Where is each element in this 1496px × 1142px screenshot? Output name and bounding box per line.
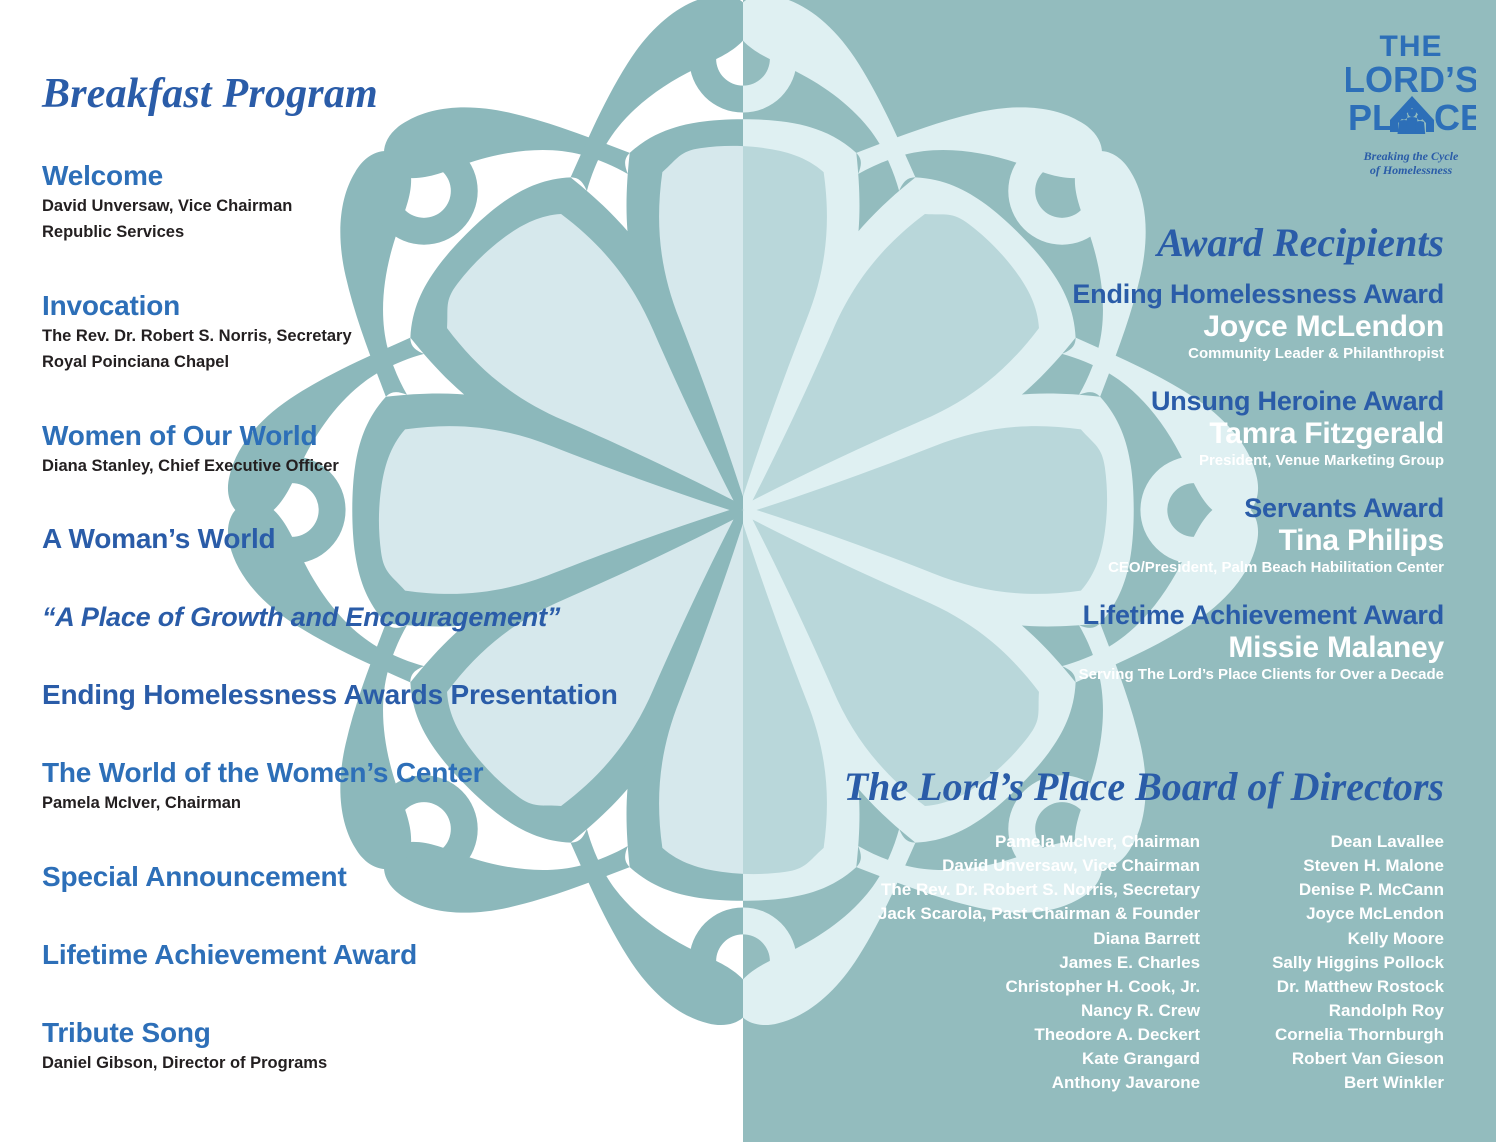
board-member-name: Randolph Roy bbox=[1272, 999, 1444, 1023]
program-item-heading: “A Place of Growth and Encouragement” bbox=[42, 602, 702, 633]
program-item-heading: The World of the Women’s Center bbox=[42, 757, 702, 789]
board-of-directors-section: The Lord’s Place Board of Directors Pame… bbox=[604, 766, 1444, 1095]
program-item-heading: Welcome bbox=[42, 160, 702, 192]
program-item-subtitle: Pamela McIver, Chairman bbox=[42, 793, 702, 815]
award-recipient-role: Community Leader & Philanthropist bbox=[744, 345, 1444, 363]
award-list: Ending Homelessness AwardJoyce McLendonC… bbox=[744, 278, 1444, 684]
program-item: WelcomeDavid Unversaw, Vice ChairmanRepu… bbox=[42, 160, 702, 244]
breakfast-program-column: Breakfast Program WelcomeDavid Unversaw,… bbox=[42, 72, 702, 1121]
program-item-subtitle: Royal Poinciana Chapel bbox=[42, 352, 702, 374]
board-member-name: Joyce McLendon bbox=[1272, 902, 1444, 926]
program-item-subtitle: Diana Stanley, Chief Executive Officer bbox=[42, 456, 702, 478]
award-recipients-section: Award Recipients Ending Homelessness Awa… bbox=[744, 222, 1444, 706]
lords-place-logo: THE LORD’S PL CE Breaking the Cycle of H… bbox=[1346, 28, 1476, 177]
award-recipient-role: President, Venue Marketing Group bbox=[744, 452, 1444, 470]
page-title: Breakfast Program bbox=[42, 72, 702, 116]
board-member-name: Jack Scarola, Past Chairman & Founder bbox=[878, 902, 1200, 926]
award-recipient-name: Tina Philips bbox=[744, 524, 1444, 558]
award-recipient-name: Missie Malaney bbox=[744, 631, 1444, 665]
program-item-heading: Women of Our World bbox=[42, 420, 702, 452]
program-item-heading: Ending Homelessness Awards Presentation bbox=[42, 679, 702, 711]
board-member-name: Christopher H. Cook, Jr. bbox=[878, 975, 1200, 999]
board-member-name: Denise P. McCann bbox=[1272, 878, 1444, 902]
svg-text:PL: PL bbox=[1348, 97, 1394, 138]
program-item-list: WelcomeDavid Unversaw, Vice ChairmanRepu… bbox=[42, 160, 702, 1075]
board-member-name: Diana Barrett bbox=[878, 927, 1200, 951]
award-entry: Unsung Heroine AwardTamra FitzgeraldPres… bbox=[744, 385, 1444, 470]
logo-tagline-line-1: Breaking the Cycle bbox=[1346, 149, 1476, 163]
program-item-subtitle: The Rev. Dr. Robert S. Norris, Secretary bbox=[42, 326, 702, 348]
board-member-name: The Rev. Dr. Robert S. Norris, Secretary bbox=[878, 878, 1200, 902]
program-item: InvocationThe Rev. Dr. Robert S. Norris,… bbox=[42, 290, 702, 374]
board-member-name: Dr. Matthew Rostock bbox=[1272, 975, 1444, 999]
board-of-directors-title: The Lord’s Place Board of Directors bbox=[604, 766, 1444, 808]
program-item: A Woman’s World bbox=[42, 523, 702, 555]
program-item-subtitle: David Unversaw, Vice Chairman bbox=[42, 196, 702, 218]
board-member-name: Bert Winkler bbox=[1272, 1071, 1444, 1095]
board-member-name: Kelly Moore bbox=[1272, 927, 1444, 951]
svg-text:LORD’S: LORD’S bbox=[1346, 59, 1476, 100]
svg-text:CE: CE bbox=[1434, 97, 1476, 138]
award-entry: Lifetime Achievement AwardMissie Malaney… bbox=[744, 599, 1444, 684]
board-member-name: Nancy R. Crew bbox=[878, 999, 1200, 1023]
program-item: The World of the Women’s CenterPamela Mc… bbox=[42, 757, 702, 815]
award-recipients-title: Award Recipients bbox=[744, 222, 1444, 264]
award-title: Lifetime Achievement Award bbox=[744, 599, 1444, 631]
board-member-name: James E. Charles bbox=[878, 951, 1200, 975]
award-recipient-name: Joyce McLendon bbox=[744, 310, 1444, 344]
award-recipient-role: Serving The Lord’s Place Clients for Ove… bbox=[744, 666, 1444, 684]
award-recipient-name: Tamra Fitzgerald bbox=[744, 417, 1444, 451]
program-item-heading: Invocation bbox=[42, 290, 702, 322]
program-item-subtitle: Republic Services bbox=[42, 222, 702, 244]
program-item-heading: Lifetime Achievement Award bbox=[42, 939, 702, 971]
award-recipient-role: CEO/President, Palm Beach Habilitation C… bbox=[744, 559, 1444, 577]
program-item-heading: A Woman’s World bbox=[42, 523, 702, 555]
program-item-heading: Tribute Song bbox=[42, 1017, 702, 1049]
board-member-name: Cornelia Thornburgh bbox=[1272, 1023, 1444, 1047]
award-title: Servants Award bbox=[744, 492, 1444, 524]
award-title: Ending Homelessness Award bbox=[744, 278, 1444, 310]
logo-tagline: Breaking the Cycle of Homelessness bbox=[1346, 149, 1476, 177]
board-member-name: Anthony Javarone bbox=[878, 1071, 1200, 1095]
board-member-name: Pamela McIver, Chairman bbox=[878, 830, 1200, 854]
board-columns: Pamela McIver, ChairmanDavid Unversaw, V… bbox=[604, 830, 1444, 1095]
board-member-name: Robert Van Gieson bbox=[1272, 1047, 1444, 1071]
board-member-name: Kate Grangard bbox=[878, 1047, 1200, 1071]
program-page: Breakfast Program WelcomeDavid Unversaw,… bbox=[0, 0, 1496, 1142]
program-item: Women of Our WorldDiana Stanley, Chief E… bbox=[42, 420, 702, 478]
program-item: Lifetime Achievement Award bbox=[42, 939, 702, 971]
board-column-right: Dean LavalleeSteven H. MaloneDenise P. M… bbox=[1272, 830, 1444, 1095]
award-entry: Ending Homelessness AwardJoyce McLendonC… bbox=[744, 278, 1444, 363]
program-item-heading: Special Announcement bbox=[42, 861, 702, 893]
award-title: Unsung Heroine Award bbox=[744, 385, 1444, 417]
board-member-name: Steven H. Malone bbox=[1272, 854, 1444, 878]
award-entry: Servants AwardTina PhilipsCEO/President,… bbox=[744, 492, 1444, 577]
program-item-subtitle: Daniel Gibson, Director of Programs bbox=[42, 1053, 702, 1075]
board-member-name: Dean Lavallee bbox=[1272, 830, 1444, 854]
program-item: Special Announcement bbox=[42, 861, 702, 893]
board-column-left: Pamela McIver, ChairmanDavid Unversaw, V… bbox=[878, 830, 1200, 1095]
lords-place-logo-icon: THE LORD’S PL CE bbox=[1346, 28, 1476, 146]
program-item: “A Place of Growth and Encouragement” bbox=[42, 602, 702, 633]
board-member-name: David Unversaw, Vice Chairman bbox=[878, 854, 1200, 878]
program-item: Ending Homelessness Awards Presentation bbox=[42, 679, 702, 711]
program-item: Tribute SongDaniel Gibson, Director of P… bbox=[42, 1017, 702, 1075]
board-member-name: Theodore A. Deckert bbox=[878, 1023, 1200, 1047]
board-member-name: Sally Higgins Pollock bbox=[1272, 951, 1444, 975]
logo-tagline-line-2: of Homelessness bbox=[1346, 163, 1476, 177]
